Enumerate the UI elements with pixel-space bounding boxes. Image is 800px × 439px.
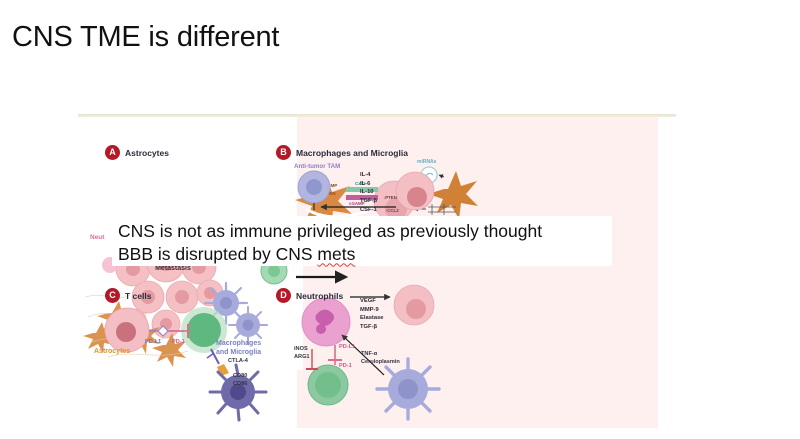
overlay-line-2: BBB is disrupted by CNS mets [118,243,542,266]
svg-text:↑CCL2: ↑CCL2 [385,208,399,213]
overlay-line-2-prefix: BBB is disrupted by CNS [118,244,317,264]
presentation-slide: CNS TME is different [0,0,800,439]
svg-text:↓PTEN: ↓PTEN [383,195,397,200]
tme-figure: cGAMP ↑PTEN Cx43 cGAMP ↓PTEN ↑CCL2 miRN [78,117,676,429]
panel-title-macrophages: Macrophages and Microglia [296,148,408,158]
label-cd86: CD86 [233,380,247,388]
panel-title-astrocytes: Astrocytes [125,148,169,158]
label-arg1: ARG1 [294,353,310,361]
neutrophil-factor-list: VEGF MMP-9 Elastase TGF-β [360,297,384,332]
slide-title: CNS TME is different [12,20,279,55]
panel-badge-a: A [105,145,120,160]
svg-text:miRNAs: miRNAs [417,159,437,165]
label-pd-1-panel-c: PD-1 [172,338,185,346]
panel-title-tcells: T cells [125,291,151,301]
panel-badge-c: C [105,288,120,303]
label-ctla-4: CTLA-4 [228,357,248,365]
overlay-misspelled-word: mets [317,244,355,264]
label-tnf-alpha: TNF-α [361,350,377,358]
label-cd80: CD80 [233,372,247,380]
label-pd-1-panel-d: PD-1 [339,362,352,370]
label-pd-l1-panel-d: PD-L1 [339,343,355,351]
panel-badge-b: B [276,145,291,160]
anti-tumor-cytokine-list: IL-4 IL-6 IL-10 TGF-β CSF-1 [360,171,377,214]
astrocytes-overview-label: Astrocytes [94,348,130,357]
panel-title-neutrophils: Neutrophils [296,291,343,301]
label-inos: iNOS [294,345,308,353]
panel-badge-d: D [276,288,291,303]
overlay-annotation-text: CNS is not as immune privileged as previ… [118,220,542,267]
label-pd-l1-panel-c: PD-L1 [145,338,161,346]
label-ceruloplasmin: Ceruloplasmin [361,358,400,366]
anti-tumor-tam-label: Anti-tumor TAM [294,163,340,170]
overlay-line-1: CNS is not as immune privileged as previ… [118,220,542,243]
neutrophil-overview-label: Neut [90,234,104,241]
macrophages-overview-label: Macrophages and Microglia [216,340,290,358]
